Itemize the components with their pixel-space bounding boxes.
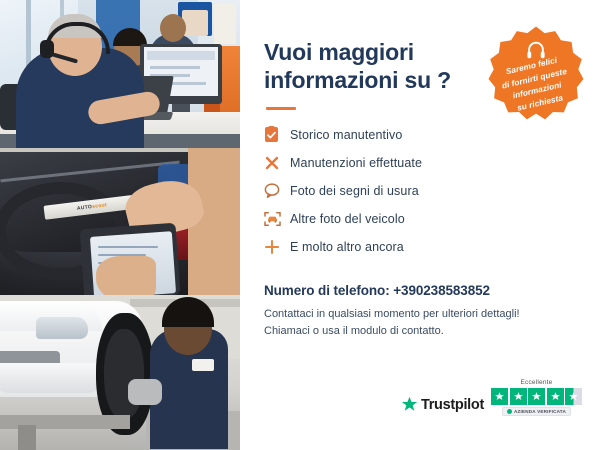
- phone-label: Numero di telefono:: [264, 283, 393, 298]
- trustpilot-logo: Trustpilot: [401, 396, 484, 416]
- star-filled: [491, 388, 508, 405]
- contact-subtext-line-2: Chiamaci o usa il modulo di contatto.: [264, 323, 576, 340]
- list-item-label: Storico manutentivo: [290, 128, 402, 142]
- title-divider: [266, 107, 296, 110]
- content-panel: Vuoi maggiori informazioni su ? Saremo f…: [240, 0, 600, 450]
- photo-column: AUTOscout: [0, 0, 240, 450]
- star-half: [565, 388, 582, 405]
- star-rating: [491, 388, 582, 405]
- feature-list: Storico manutentivo Manutenzioni effettu…: [264, 121, 576, 260]
- trustpilot-widget[interactable]: Trustpilot Eccellente: [401, 379, 582, 416]
- promo-banner: AUTOscout Vuoi maggiori: [0, 0, 600, 450]
- headline-line-1: Vuoi maggiori: [264, 39, 414, 65]
- list-item-label: Foto dei segni di usura: [290, 184, 419, 198]
- verified-check-icon: [507, 409, 512, 414]
- star-filled: [547, 388, 564, 405]
- list-item-label: E molto altro ancora: [290, 240, 404, 254]
- callout-badge: Saremo felici di fornirti queste informa…: [482, 24, 590, 132]
- phone-line: Numero di telefono: +390238583852: [264, 283, 576, 298]
- trustpilot-star-icon: [401, 396, 418, 413]
- verified-label: AZIENDA VERIFICATA: [514, 409, 566, 414]
- mechanic-inspecting-wheel-photo: [0, 295, 240, 450]
- star-filled: [510, 388, 527, 405]
- page-title: Vuoi maggiori informazioni su ?: [264, 38, 469, 94]
- document-check-icon: [264, 126, 290, 143]
- list-item: Altre foto del veicolo: [264, 205, 576, 232]
- trustpilot-name: Trustpilot: [421, 397, 484, 413]
- list-item: E molto altro ancora: [264, 233, 576, 260]
- contact-subtext: Contattaci in qualsiasi momento per ulte…: [264, 306, 576, 340]
- list-item-label: Manutenzioni effettuate: [290, 156, 422, 170]
- technician-measuring-car-panel-photo: AUTOscout: [0, 148, 240, 295]
- trustpilot-rating: Eccellente: [491, 379, 582, 416]
- speech-bubble-icon: [264, 183, 290, 198]
- list-item: Foto dei segni di usura: [264, 177, 576, 204]
- list-item: Manutenzioni effettuate: [264, 149, 576, 176]
- star-filled: [528, 388, 545, 405]
- headline-line-2: informazioni su ?: [264, 67, 451, 93]
- verified-company-badge: AZIENDA VERIFICATA: [502, 407, 571, 416]
- list-item-label: Altre foto del veicolo: [290, 212, 405, 226]
- rating-label: Eccellente: [521, 379, 553, 386]
- plus-icon: [264, 239, 290, 255]
- contact-subtext-line-1: Contattaci in qualsiasi momento per ulte…: [264, 306, 576, 323]
- call-center-agents-headset-photo: [0, 0, 240, 148]
- tools-cross-icon: [264, 155, 290, 171]
- car-scan-icon: [264, 211, 290, 227]
- phone-number[interactable]: +390238583852: [393, 283, 490, 298]
